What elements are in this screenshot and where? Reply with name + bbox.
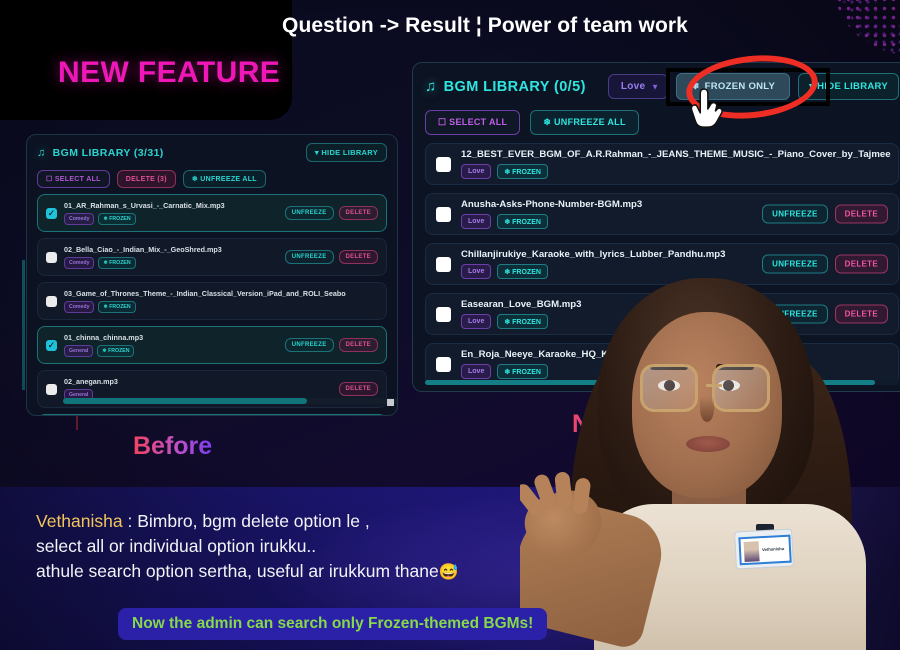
track-title: 02_Bella_Ciao_-_Indian_Mix_-_GeoShred.mp…	[64, 245, 222, 254]
row-unfreeze-button[interactable]: UNFREEZE	[762, 205, 828, 224]
summary-banner: Now the admin can search only Frozen-the…	[118, 608, 547, 640]
before-row-checkbox[interactable]	[46, 296, 57, 307]
now-row-checkbox[interactable]	[436, 307, 451, 322]
quote-separator: :	[123, 511, 138, 531]
row-actions: UNFREEZEDELETE	[285, 206, 378, 220]
category-tag: Love	[461, 214, 491, 229]
track-tags: Comedy❄ FROZEN	[64, 257, 222, 269]
table-row[interactable]: 03_Game_of_Thrones_Theme_-_Indian_Classi…	[37, 282, 387, 320]
category-tag: Comedy	[64, 301, 94, 313]
id-badge-photo	[744, 541, 760, 562]
track-title: Anusha-Asks-Phone-Number-BGM.mp3	[461, 199, 642, 210]
before-action-bar: ☐ SELECT ALL DELETE (3) ❄ UNFREEZE ALL	[27, 162, 397, 194]
track-title: Chillanjirukiye_Karaoke_with_lyrics_Lubb…	[461, 249, 725, 260]
quote-line-2: select all or individual option irukku..	[36, 534, 459, 559]
before-horizontal-scrollbar[interactable]	[63, 398, 398, 404]
category-tag: Love	[461, 264, 491, 279]
category-tag: Love	[461, 364, 491, 379]
before-panel-header: ♫ BGM LIBRARY (3/31) ▾ HIDE LIBRARY	[27, 135, 397, 162]
track-tags: Love❄ FROZEN	[461, 214, 642, 229]
category-filter-dropdown[interactable]: Love ▼	[608, 74, 669, 99]
track-info: 02_Bella_Ciao_-_Indian_Mix_-_GeoShred.mp…	[64, 245, 222, 269]
frozen-tag: ❄ FROZEN	[98, 301, 135, 313]
category-filter-value: Love	[621, 81, 646, 92]
quote-text-1: Bimbro, bgm delete option le ,	[137, 511, 370, 531]
row-delete-button[interactable]: DELETE	[339, 250, 378, 264]
category-tag: Comedy	[64, 213, 94, 225]
before-select-all-button[interactable]: ☐ SELECT ALL	[37, 170, 110, 188]
id-badge-name: Vethanisha	[762, 546, 784, 552]
row-delete-button[interactable]: DELETE	[835, 205, 888, 224]
before-library-title-text: BGM LIBRARY (3/31)	[53, 147, 164, 159]
track-title: 01_AR_Rahman_s_Urvasi_-_Carnatic_Mix.mp3	[64, 201, 225, 210]
now-action-bar: ☐ SELECT ALL ❄ UNFREEZE ALL	[413, 100, 900, 143]
id-badge: Vethanisha	[734, 529, 794, 570]
track-title: 02_anegan.mp3	[64, 377, 118, 386]
track-title: 01_chinna_chinna.mp3	[64, 333, 143, 342]
now-library-title-text: BGM LIBRARY (0/5)	[444, 79, 586, 95]
quote-speaker: Vethanisha	[36, 511, 123, 531]
mouth	[686, 436, 730, 452]
track-title: 03_Game_of_Thrones_Theme_-_Indian_Classi…	[64, 289, 346, 298]
now-row-checkbox[interactable]	[436, 357, 451, 372]
before-row-checkbox[interactable]: ✓	[46, 208, 57, 219]
eyeglass-lens-right	[712, 364, 770, 412]
chevron-down-icon: ▼	[651, 82, 659, 91]
now-row-checkbox[interactable]	[436, 157, 451, 172]
now-select-all-button[interactable]: ☐ SELECT ALL	[425, 110, 520, 135]
new-feature-label: NEW FEATURE	[58, 56, 280, 90]
track-title: 12_BEST_EVER_BGM_OF_A.R.Rahman_-_JEANS_T…	[461, 149, 891, 160]
before-hide-library-button[interactable]: ▾ HIDE LIBRARY	[306, 143, 387, 162]
before-row-checkbox[interactable]	[46, 384, 57, 395]
row-unfreeze-button[interactable]: UNFREEZE	[285, 338, 334, 352]
frozen-tag: ❄ FROZEN	[97, 345, 134, 357]
before-row-checkbox[interactable]	[46, 252, 57, 263]
track-info: 01_chinna_chinna.mp3General❄ FROZEN	[64, 333, 143, 357]
row-actions: UNFREEZEDELETE	[762, 205, 888, 224]
track-info: 01_AR_Rahman_s_Urvasi_-_Carnatic_Mix.mp3…	[64, 201, 225, 225]
quote-line-1: Vethanisha : Bimbro, bgm delete option l…	[36, 509, 459, 534]
finger-3	[554, 471, 573, 508]
table-row[interactable]: ✓01_chinna_chinna.mp3General❄ FROZENUNFR…	[37, 326, 387, 364]
before-resize-corner[interactable]	[387, 399, 394, 406]
frozen-tag: ❄ FROZEN	[497, 214, 548, 229]
track-tags: Comedy❄ FROZEN	[64, 213, 225, 225]
eyeglass-bridge	[706, 384, 722, 387]
before-row-checkbox[interactable]: ✓	[46, 340, 57, 351]
category-tag: Comedy	[64, 257, 94, 269]
track-info: 03_Game_of_Thrones_Theme_-_Indian_Classi…	[64, 289, 346, 313]
row-actions: UNFREEZEDELETE	[285, 338, 378, 352]
nose	[700, 396, 714, 422]
now-library-title: ♫ BGM LIBRARY (0/5)	[425, 78, 586, 95]
screenshot-stage: Question -> Result ¦ Power of team work …	[0, 0, 900, 650]
id-badge-card: Vethanisha	[738, 535, 791, 566]
row-delete-button[interactable]: DELETE	[339, 338, 378, 352]
table-row[interactable]: ✓03_rolex.mp3GeneralDELETE	[37, 414, 387, 416]
frozen-tag: ❄ FROZEN	[497, 164, 548, 179]
music-note-icon: ♫	[37, 147, 46, 159]
row-actions: UNFREEZEDELETE	[285, 250, 378, 264]
decorative-rail-teal	[22, 260, 25, 390]
cursor-pointing-hand-icon	[686, 88, 724, 130]
before-bgm-library-panel: ♫ BGM LIBRARY (3/31) ▾ HIDE LIBRARY ☐ SE…	[26, 134, 398, 416]
before-unfreeze-all-button[interactable]: ❄ UNFREEZE ALL	[183, 170, 266, 188]
now-unfreeze-all-button[interactable]: ❄ UNFREEZE ALL	[530, 110, 638, 135]
table-row[interactable]: 02_Bella_Ciao_-_Indian_Mix_-_GeoShred.mp…	[37, 238, 387, 276]
category-tag: General	[64, 345, 93, 357]
row-actions: DELETE	[339, 382, 378, 396]
before-delete-button[interactable]: DELETE (3)	[117, 170, 176, 188]
track-info: Anusha-Asks-Phone-Number-BGM.mp3Love❄ FR…	[461, 199, 642, 229]
track-tags: General❄ FROZEN	[64, 345, 143, 357]
row-delete-button[interactable]: DELETE	[339, 382, 378, 396]
row-unfreeze-button[interactable]: UNFREEZE	[285, 206, 334, 220]
row-delete-button[interactable]: DELETE	[339, 206, 378, 220]
quote-line-3: athule search option sertha, useful ar i…	[36, 559, 459, 585]
quote-block: Vethanisha : Bimbro, bgm delete option l…	[36, 509, 459, 585]
now-row-checkbox[interactable]	[436, 207, 451, 222]
table-row[interactable]: Anusha-Asks-Phone-Number-BGM.mp3Love❄ FR…	[425, 193, 899, 235]
category-tag: Love	[461, 314, 491, 329]
page-title: Question -> Result ¦ Power of team work	[255, 14, 715, 38]
table-row[interactable]: 12_BEST_EVER_BGM_OF_A.R.Rahman_-_JEANS_T…	[425, 143, 899, 185]
before-library-title: ♫ BGM LIBRARY (3/31)	[37, 147, 164, 159]
table-row[interactable]: ✓01_AR_Rahman_s_Urvasi_-_Carnatic_Mix.mp…	[37, 194, 387, 232]
quote-text-3: athule search option sertha, useful ar i…	[36, 561, 439, 581]
now-row-checkbox[interactable]	[436, 257, 451, 272]
track-info: 12_BEST_EVER_BGM_OF_A.R.Rahman_-_JEANS_T…	[461, 149, 891, 179]
track-tags: Comedy❄ FROZEN	[64, 301, 346, 313]
eyeglass-lens-left	[640, 364, 698, 412]
presenter-photo: Vethanisha	[520, 268, 900, 650]
category-tag: Love	[461, 164, 491, 179]
music-note-icon: ♫	[425, 78, 437, 95]
before-track-list: ✓01_AR_Rahman_s_Urvasi_-_Carnatic_Mix.mp…	[27, 194, 397, 416]
frozen-tag: ❄ FROZEN	[98, 213, 135, 225]
sweat-smile-emoji: 😅	[439, 564, 459, 581]
label-before: Before	[133, 432, 212, 461]
row-unfreeze-button[interactable]: UNFREEZE	[285, 250, 334, 264]
track-tags: Love❄ FROZEN	[461, 164, 891, 179]
frozen-tag: ❄ FROZEN	[98, 257, 135, 269]
